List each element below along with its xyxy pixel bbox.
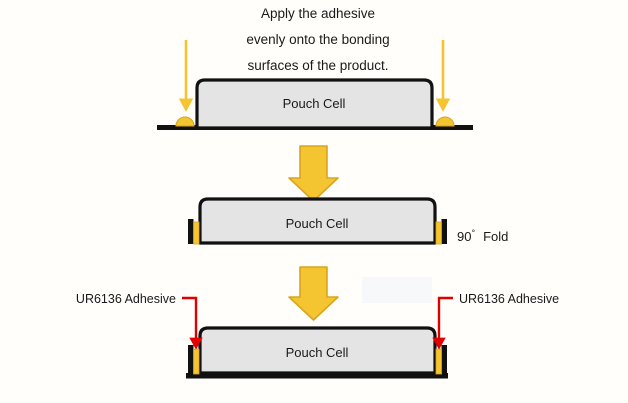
background-artifact-band xyxy=(362,277,432,303)
adhesive-dome-right xyxy=(436,117,454,126)
pouch-cell-label: Pouch Cell xyxy=(286,216,349,231)
header-instruction: Apply the adhesive evenly onto the bondi… xyxy=(246,6,389,73)
degree-symbol: ° xyxy=(471,228,475,238)
adhesive-strip xyxy=(194,349,200,374)
adhesive-strip xyxy=(436,222,442,244)
callout-right-label: UR6136 Adhesive xyxy=(459,292,559,306)
callout-left-label: UR6136 Adhesive xyxy=(76,292,176,306)
callout-left: UR6136 Adhesive xyxy=(76,292,196,340)
callout-right: UR6136 Adhesive xyxy=(439,292,559,340)
callout-left-leader-line xyxy=(182,298,196,340)
flange-vertical-bar xyxy=(188,345,194,374)
fold-angle-label: 90°Fold xyxy=(457,228,508,244)
flange-vertical-bar xyxy=(442,345,448,374)
pouch-cell-label: Pouch Cell xyxy=(283,96,346,111)
adhesive-strip xyxy=(436,349,442,374)
step-2-fold: Pouch Cell 90°Fold xyxy=(188,199,508,244)
diagram-canvas: Apply the adhesive evenly onto the bondi… xyxy=(0,0,628,403)
header-line-3: surfaces of the product. xyxy=(247,58,388,73)
adhesive-strip xyxy=(194,222,200,244)
arrow-step2-to-step3 xyxy=(289,267,432,320)
fold-word: Fold xyxy=(483,229,508,244)
folded-tab-left xyxy=(188,219,199,244)
folded-tab-left xyxy=(188,345,199,374)
step-1-apply: Pouch Cell xyxy=(157,40,473,130)
pouch-cell-label: Pouch Cell xyxy=(286,345,349,360)
fold-angle-value: 90 xyxy=(457,229,471,244)
flange-vertical-bar xyxy=(188,219,194,244)
folded-tab-right xyxy=(436,345,447,374)
header-line-1: Apply the adhesive xyxy=(261,6,375,21)
arrow-step1-to-step2 xyxy=(289,146,338,201)
callout-right-leader-line xyxy=(439,298,453,340)
adhesive-dome-left xyxy=(176,117,194,126)
header-line-2: evenly onto the bonding xyxy=(246,32,389,47)
folded-tab-right xyxy=(436,219,447,244)
process-down-arrow-icon xyxy=(289,267,338,320)
process-down-arrow-icon xyxy=(289,146,338,201)
flange-vertical-bar xyxy=(442,219,448,244)
